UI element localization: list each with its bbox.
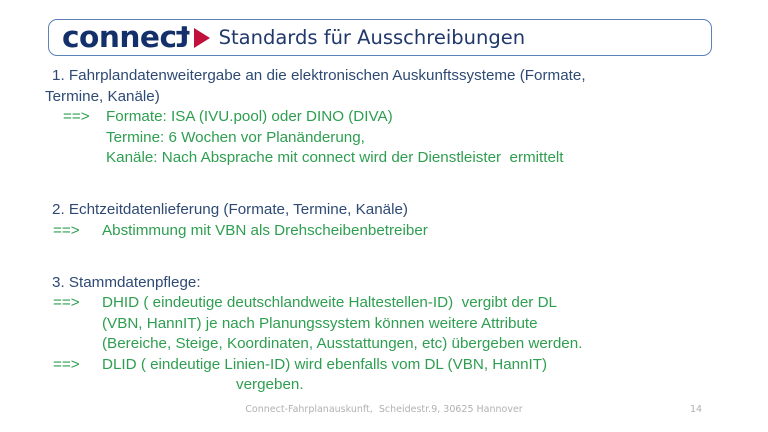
section-1-bullet-3-text: Kanäle: Nach Absprache mit connect wird … (106, 149, 564, 166)
section-gap-1 (0, 169, 768, 190)
slide-body: 1. Fahrplandatenweitergabe an die elektr… (0, 66, 768, 396)
logo-wordmark: connect (62, 23, 190, 52)
section-3-heading: 3. Stammdatenpflege: (0, 273, 768, 294)
logo-wordmark-main: connec (62, 20, 177, 54)
section-3-bullet-2: (VBN, HannIT) je nach Planungssystem kön… (0, 314, 768, 335)
arrow-marker: ==> (53, 293, 102, 314)
arrow-marker: ==> (53, 221, 102, 242)
section-1-heading-line-1: 1. Fahrplandatenweitergabe an die elektr… (0, 66, 768, 87)
section-gap-1b (0, 189, 768, 200)
section-3-bullet-3-text: (Bereiche, Steige, Koordinaten, Ausstatt… (102, 335, 582, 352)
section-3-bullet-3: (Bereiche, Steige, Koordinaten, Ausstatt… (0, 334, 768, 355)
section-2-heading: 2. Echtzeitdatenlieferung (Formate, Term… (0, 200, 768, 221)
section-3-bullet-1: ==>DHID ( eindeutige deutschlandweite Ha… (0, 293, 768, 314)
arrow-marker: ==> (53, 355, 102, 376)
section-3: 3. Stammdatenpflege: ==>DHID ( eindeutig… (0, 273, 768, 396)
connect-logo: connect (62, 23, 188, 52)
section-3-bullet-2-text: (VBN, HannIT) je nach Planungssystem kön… (102, 315, 538, 332)
section-1-bullet-2-text: Termine: 6 Wochen vor Planänderung, (106, 129, 365, 146)
section-1-bullet-3: Kanäle: Nach Absprache mit connect wird … (0, 148, 768, 169)
section-2-bullet-1: ==>Abstimmung mit VBN als Drehscheibenbe… (0, 221, 768, 242)
slide-header-bar: connect Standards für Ausschreibungen (48, 19, 712, 56)
section-2: 2. Echtzeitdatenlieferung (Formate, Term… (0, 200, 768, 241)
section-1-bullet-2: Termine: 6 Wochen vor Planänderung, (0, 128, 768, 149)
section-3-bullet-4-text: DLID ( eindeutige Linien-ID) wird ebenfa… (102, 356, 547, 373)
section-3-bullet-4: ==>DLID ( eindeutige Linien-ID) wird ebe… (0, 355, 768, 376)
section-3-bullet-5: vergeben. (0, 375, 768, 396)
section-1-bullet-1-text: Formate: ISA (IVU.pool) oder DINO (DIVA) (106, 108, 393, 125)
section-1-bullet-1: ==>Formate: ISA (IVU.pool) oder DINO (DI… (0, 107, 768, 128)
section-gap-2 (0, 241, 768, 262)
section-gap-2b (0, 262, 768, 273)
section-3-bullet-5-text: vergeben. (236, 376, 304, 393)
page-number: 14 (690, 404, 730, 415)
section-1-heading-line-2: Termine, Kanäle) (0, 87, 768, 108)
red-triangle-play-icon (194, 28, 210, 48)
page-title: Standards für Ausschreibungen (219, 28, 525, 48)
section-2-bullet-1-text: Abstimmung mit VBN als Drehscheibenbetre… (102, 222, 428, 239)
section-1: 1. Fahrplandatenweitergabe an die elektr… (0, 66, 768, 169)
footer-note: Connect-Fahrplanauskunft, Scheidestr.9, … (0, 404, 768, 415)
section-3-bullet-1-text: DHID ( eindeutige deutschlandweite Halte… (102, 294, 557, 311)
logo-wordmark-t: t (177, 23, 191, 52)
slide-root: { "header": { "logo_text_part1": "connec… (0, 0, 768, 432)
arrow-marker: ==> (63, 107, 106, 128)
